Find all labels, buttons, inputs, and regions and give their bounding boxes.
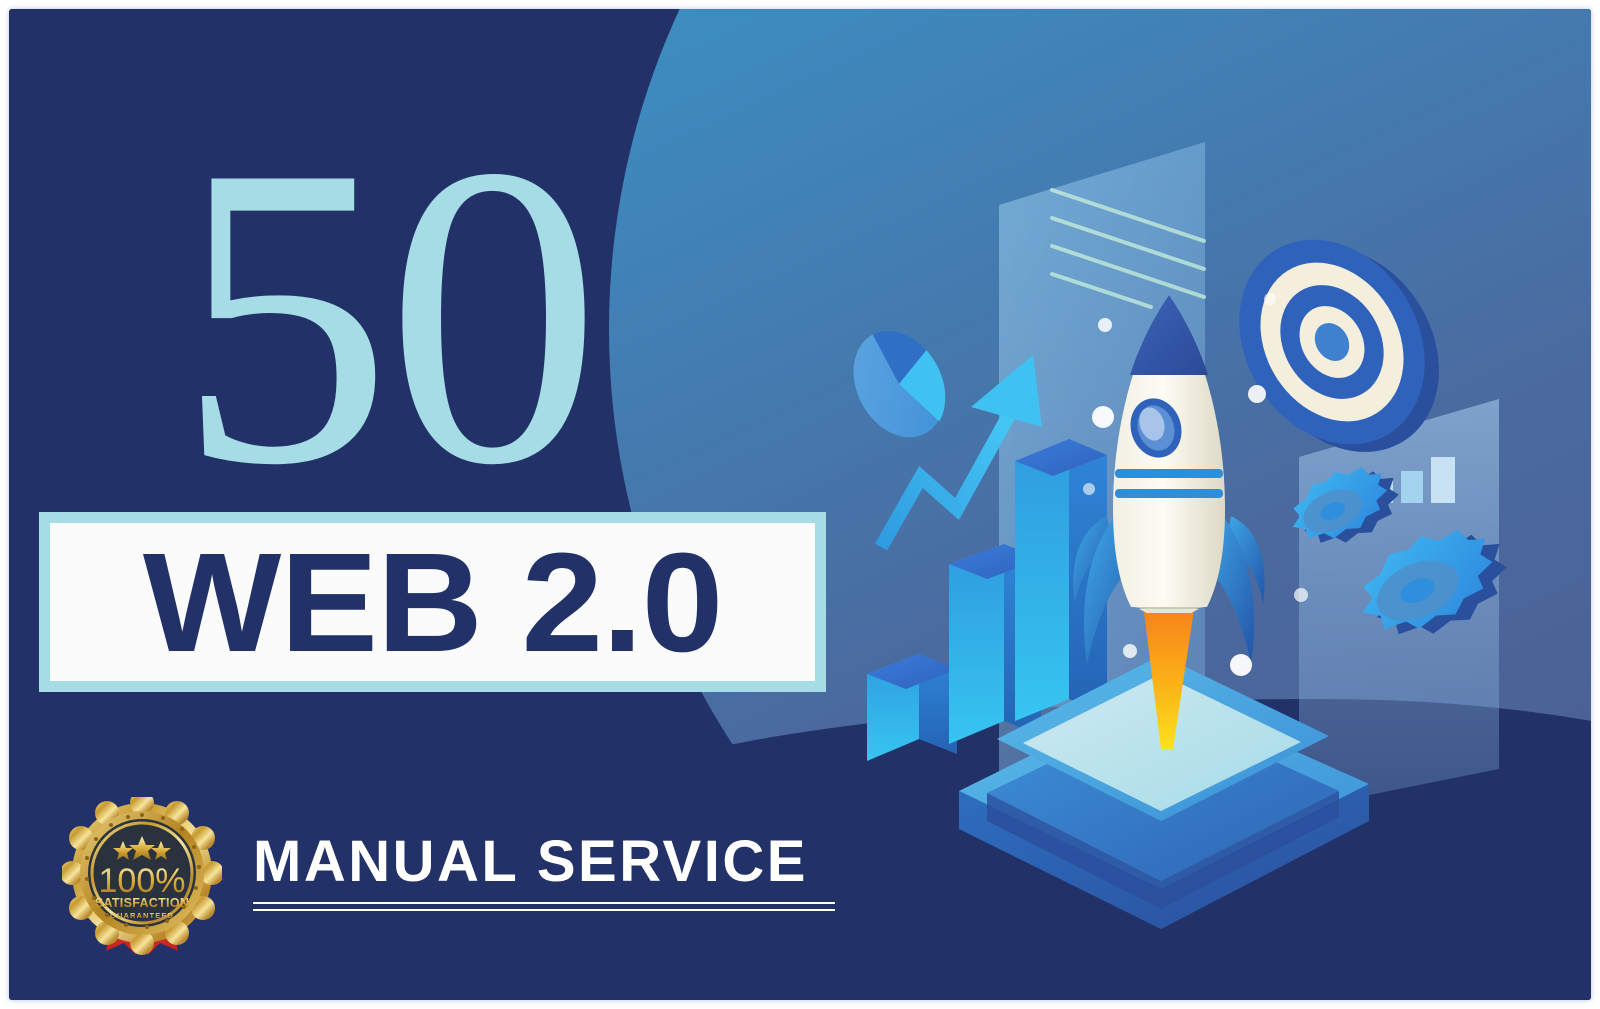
satisfaction-guarantee-badge: 100% SATISFACTION GUARANTEED (62, 797, 222, 957)
badge-percent: 100% (99, 862, 186, 900)
promotional-banner: 50 WEB 2.0 MANUAL SERVICE (0, 0, 1600, 1009)
product-label-box-inner: WEB 2.0 (50, 523, 815, 681)
product-label-box: WEB 2.0 (39, 512, 826, 692)
subtitle-underline-top (253, 902, 835, 904)
badge-line2: GUARANTEED (110, 911, 174, 920)
pie-chart (836, 315, 963, 453)
banner-artboard: 50 WEB 2.0 MANUAL SERVICE (9, 9, 1591, 1000)
product-label: WEB 2.0 (143, 532, 722, 673)
headline-number: 50 (177, 101, 595, 531)
subtitle-underline-bottom (253, 909, 835, 911)
badge-line1: SATISFACTION (95, 896, 189, 910)
subtitle: MANUAL SERVICE (253, 833, 808, 891)
